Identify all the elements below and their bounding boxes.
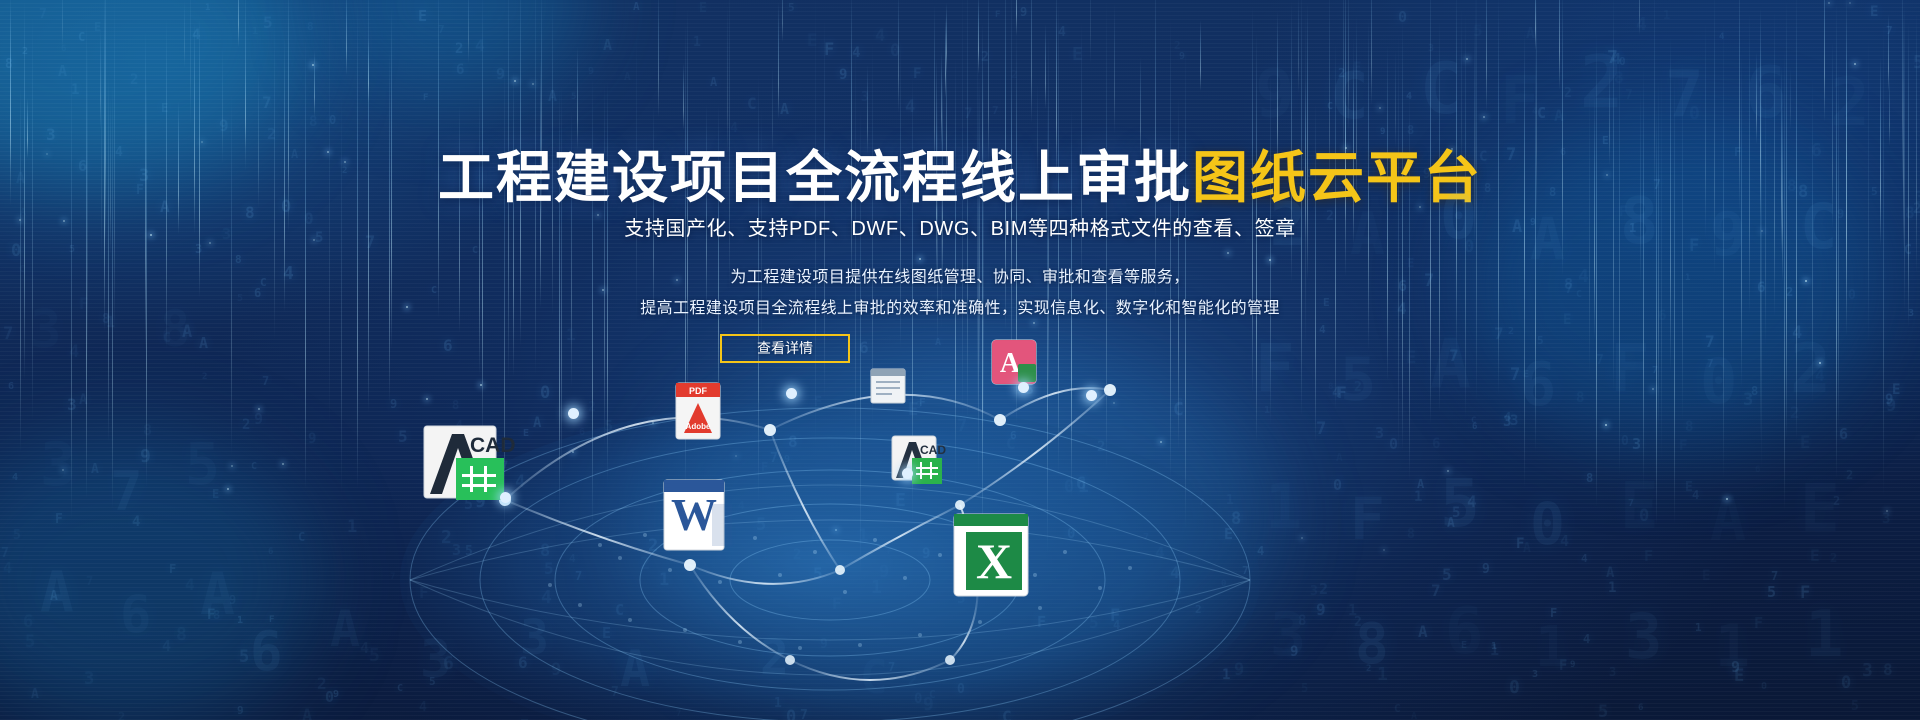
network-node — [500, 492, 511, 503]
svg-text:X: X — [976, 533, 1012, 589]
network-node — [1086, 390, 1097, 401]
hero-banner: 5AF791705E42AEE84C7784069F7604A92A68780A… — [0, 0, 1920, 720]
network-node — [786, 388, 797, 399]
world-network-globe — [300, 330, 1360, 720]
autodesk-icon: A — [988, 338, 1044, 392]
document-icon — [868, 367, 912, 407]
svg-text:PDF: PDF — [689, 386, 708, 396]
page-description: 为工程建设项目提供在线图纸管理、协同、审批和查看等服务， 提高工程建设项目全流程… — [0, 262, 1920, 324]
description-line-2: 提高工程建设项目全流程线上审批的效率和准确性，实现信息化、数字化和智能化的管理 — [0, 293, 1920, 324]
page-title-accent: 图纸云平台 — [1192, 146, 1482, 209]
network-node — [568, 408, 579, 419]
svg-text:W: W — [671, 489, 717, 540]
network-node — [902, 468, 913, 479]
network-node — [1018, 382, 1029, 393]
microsoft-word-icon: W — [660, 478, 736, 554]
autocad-small-icon: CAD — [890, 432, 950, 486]
page-title-main: 工程建设项目全流程线上审批 — [438, 146, 1192, 209]
adobe-pdf-icon: PDF Adobe — [672, 381, 728, 443]
svg-text:A: A — [1000, 348, 1021, 379]
svg-text:CAD: CAD — [920, 443, 946, 457]
microsoft-excel-icon: X — [948, 510, 1044, 602]
glow-blob-topleft — [330, 0, 590, 100]
svg-text:Adobe: Adobe — [686, 422, 711, 431]
svg-text:CAD: CAD — [470, 434, 516, 457]
description-line-1: 为工程建设项目提供在线图纸管理、协同、审批和查看等服务， — [0, 262, 1920, 293]
view-details-button[interactable]: 查看详情 — [720, 334, 850, 363]
